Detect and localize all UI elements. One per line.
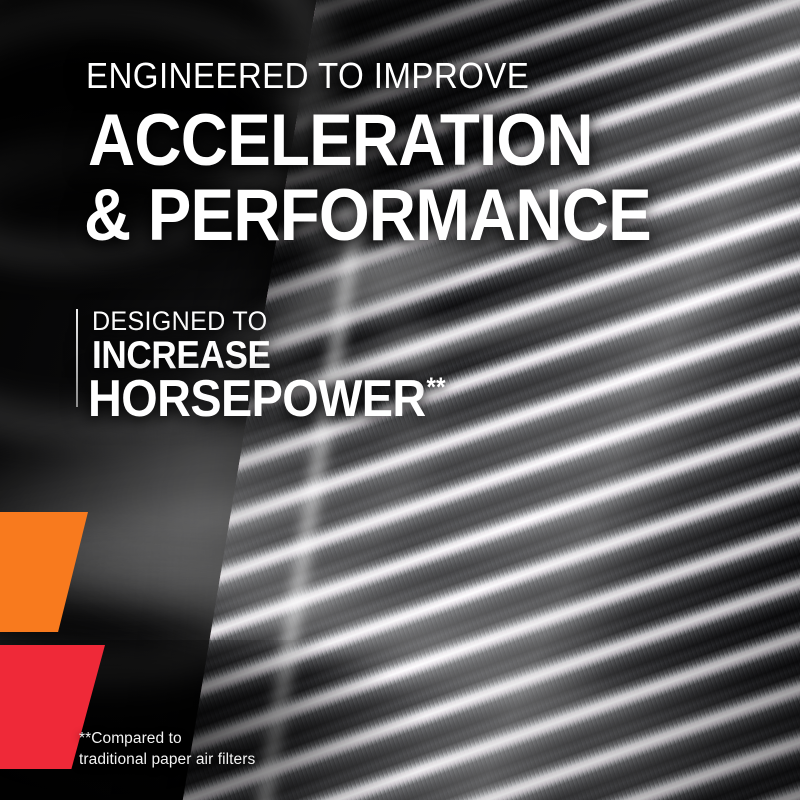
headline-eyebrow: ENGINEERED TO IMPROVE xyxy=(86,56,529,96)
footnote-asterisk-marker: ** xyxy=(427,372,446,402)
subheadline-eyebrow: DESIGNED TO xyxy=(92,306,267,336)
promo-banner: ENGINEERED TO IMPROVE ACCELERATION & PER… xyxy=(0,0,800,800)
headline-line-1: ACCELERATION xyxy=(88,104,593,177)
subheadline-line-2: HORSEPOWER xyxy=(88,370,426,428)
footnote-line-1: **Compared to xyxy=(79,728,255,749)
footnote-text: **Compared to traditional paper air filt… xyxy=(79,728,255,770)
marketing-copy: ENGINEERED TO IMPROVE ACCELERATION & PER… xyxy=(0,0,800,800)
subheadline-rule xyxy=(76,309,78,407)
headline-line-2: & PERFORMANCE xyxy=(84,179,651,252)
footnote-line-2: traditional paper air filters xyxy=(79,749,255,770)
subheadline-line-2-group: HORSEPOWER** xyxy=(88,372,445,426)
